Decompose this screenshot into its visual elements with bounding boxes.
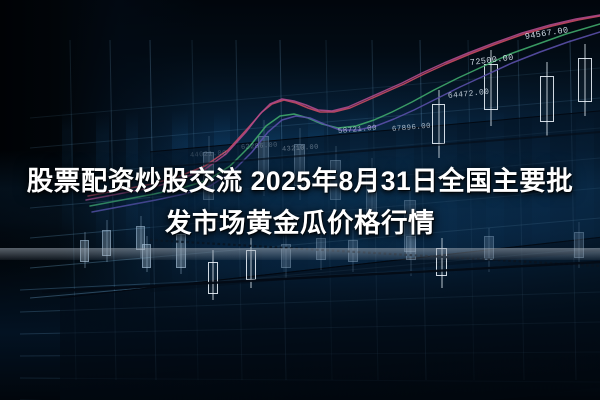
horizon-strip <box>0 248 600 260</box>
title-line-1: 股票配资炒股交流 2025年8月31日全国主要批 <box>27 166 574 196</box>
title-line-2: 发市场黄金瓜价格行情 <box>0 202 600 244</box>
banner-image: 94567.0072500.0064472.0067896.0058721.00… <box>0 0 600 400</box>
page-title: 股票配资炒股交流 2025年8月31日全国主要批 发市场黄金瓜价格行情 <box>0 160 600 244</box>
solid-reference-line <box>42 262 600 292</box>
